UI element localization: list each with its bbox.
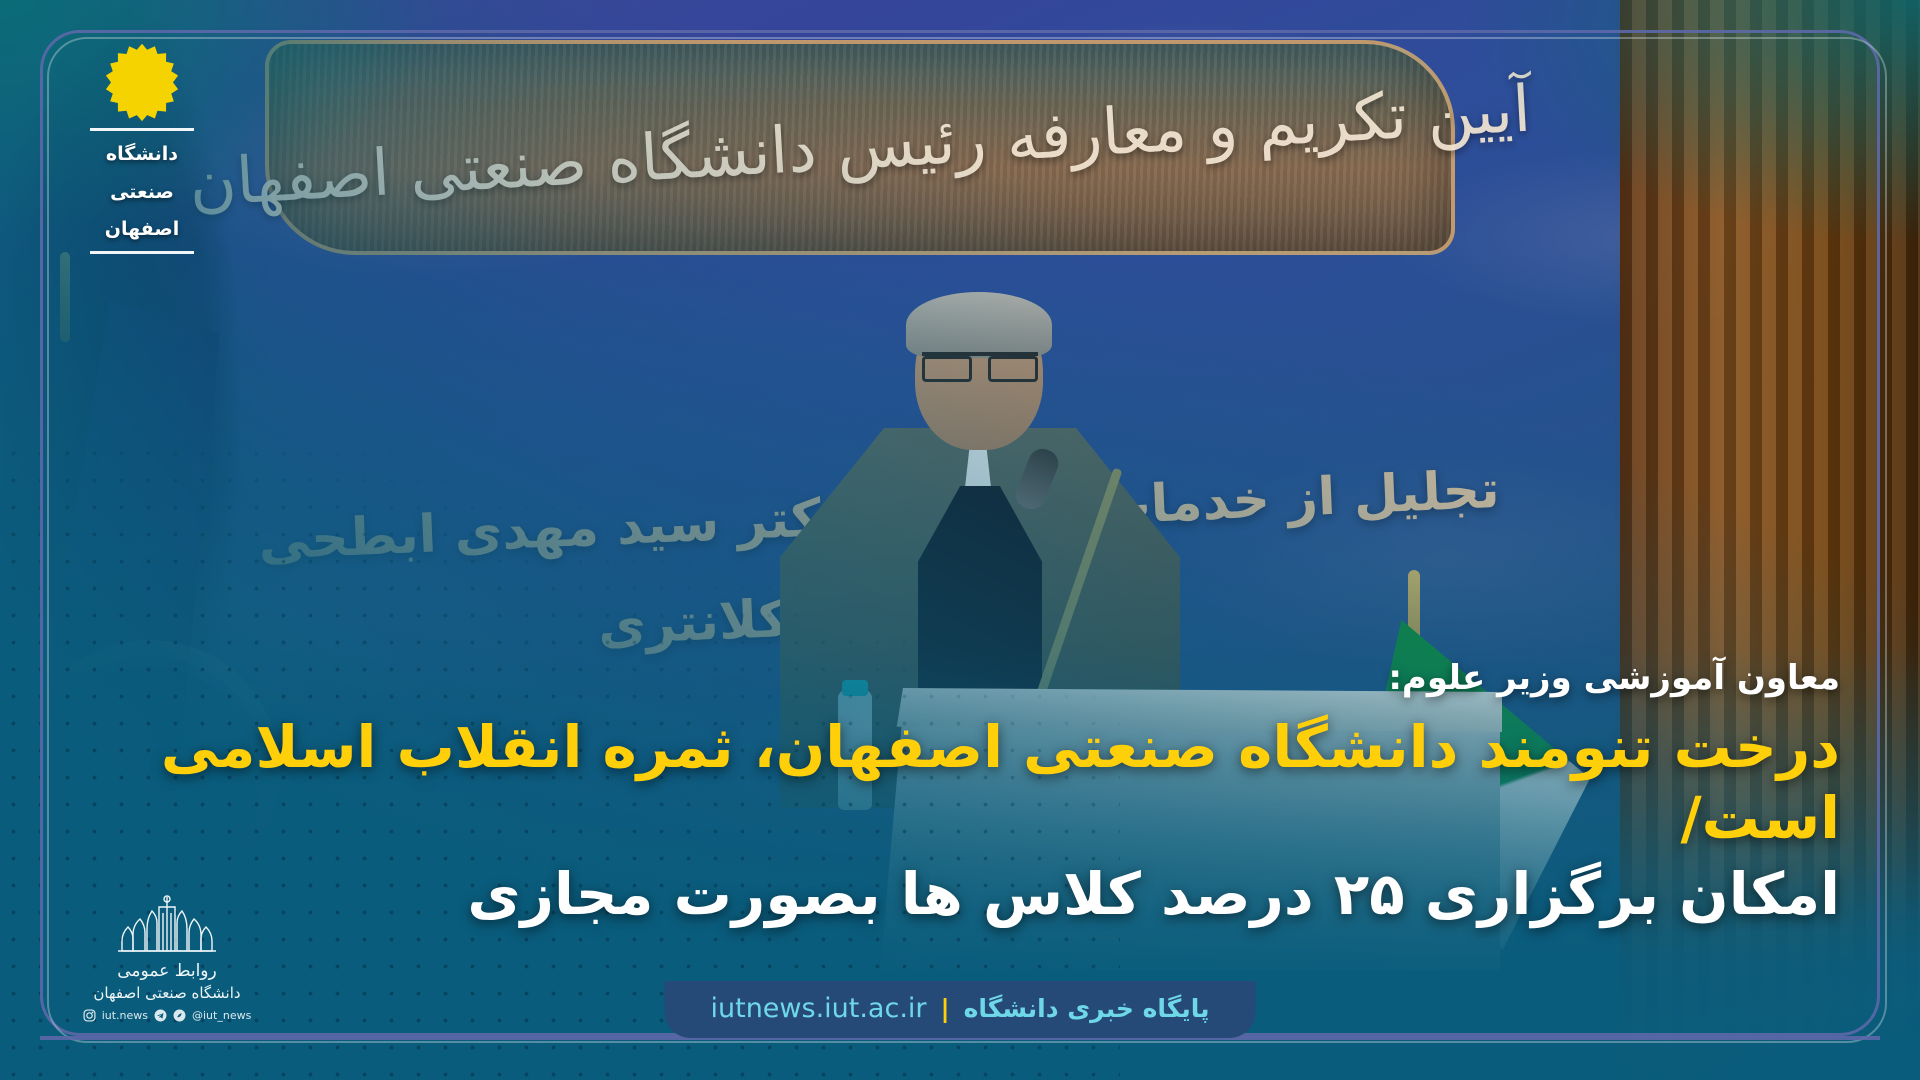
pr-logo-line-2: دانشگاه صنعتی اصفهان	[62, 984, 272, 1002]
instagram-icon[interactable]	[83, 1009, 96, 1022]
headline-block: معاون آموزشی وزیر علوم: درخت تنومند دانش…	[90, 658, 1840, 930]
lockup-rule-bottom	[90, 251, 194, 254]
headline-line-1: درخت تنومند دانشگاه صنعتی اصفهان، ثمره ا…	[90, 712, 1840, 854]
messenger-handle: @iut_news	[192, 1009, 251, 1022]
poster-canvas: آیین تکریم و معارفه رئیس دانشگاه صنعتی ا…	[0, 0, 1920, 1080]
eitaa-icon[interactable]	[173, 1009, 186, 1022]
naqsh-e-jahan-icon	[108, 893, 226, 955]
footer-url[interactable]: iutnews.iut.ac.ir	[710, 993, 926, 1024]
lockup-rule-top	[90, 128, 194, 131]
lockup-line-2: صنعتی	[62, 179, 222, 207]
footer-label: پایگاه خبری دانشگاه	[964, 994, 1210, 1023]
gear-crest-icon	[99, 42, 185, 128]
headline-kicker: معاون آموزشی وزیر علوم:	[90, 658, 1840, 698]
lockup-line-3: اصفهان	[62, 216, 222, 244]
news-site-footer[interactable]: پایگاه خبری دانشگاه | iutnews.iut.ac.ir	[664, 981, 1255, 1038]
public-relations-logo: روابط عمومی دانشگاه صنعتی اصفهان iut.new…	[62, 893, 272, 1022]
instagram-handle: iut.news	[102, 1009, 148, 1022]
university-lockup: دانشگاه صنعتی اصفهان	[62, 42, 222, 254]
pr-logo-line-1: روابط عمومی	[62, 961, 272, 981]
pr-social-row: iut.news @iut_news	[62, 1009, 272, 1022]
headline-line-2: امکان برگزاری ۲۵ درصد کلاس ها بصورت مجاز…	[90, 859, 1840, 930]
footer-separator: |	[941, 994, 950, 1023]
telegram-icon[interactable]	[154, 1009, 167, 1022]
lockup-line-1: دانشگاه	[62, 141, 222, 169]
